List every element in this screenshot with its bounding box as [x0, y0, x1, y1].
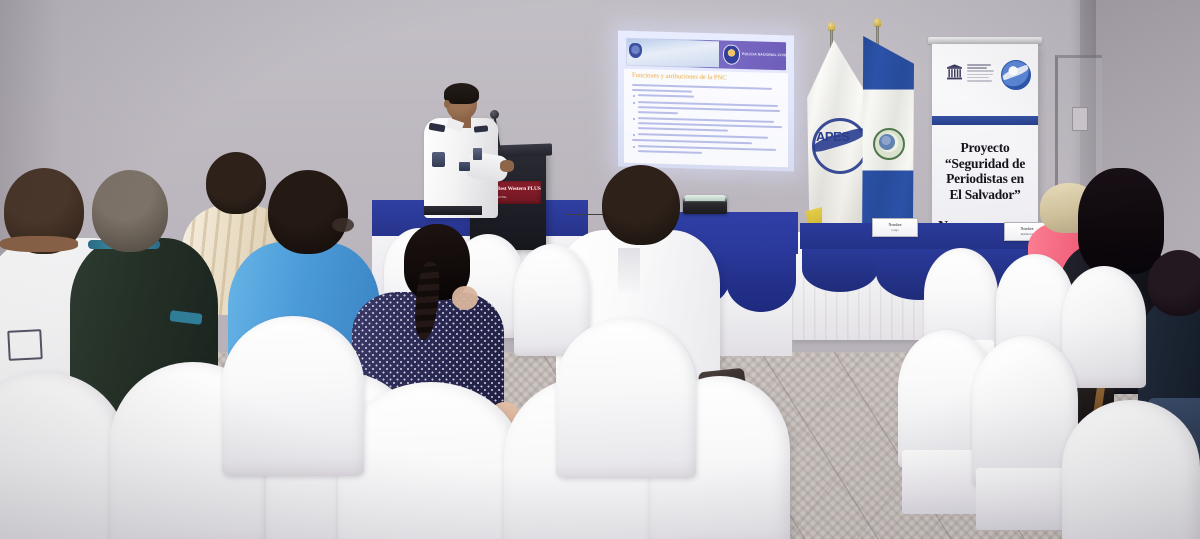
neck-skin [452, 286, 478, 310]
chair [1062, 266, 1146, 388]
jersey-logo-icon [7, 329, 43, 361]
presenter-ear [444, 100, 450, 108]
slide-text-line [638, 133, 768, 139]
slide-body: Funciones y atribuciones de la PNC [624, 69, 788, 168]
unesco-logo-icon [946, 64, 963, 82]
head [92, 170, 168, 252]
slide-text-line [638, 94, 694, 98]
wall-switch-box [1072, 107, 1088, 131]
banner-line-3: Periodistas en [932, 171, 1038, 187]
slide-bullet-icon [633, 134, 635, 136]
conference-room-photo: POLICIA NACIONAL CIVIL Funciones y atrib… [0, 0, 1200, 539]
banner-headline: Proyecto “Seguridad de Periodistas en El… [932, 140, 1038, 202]
slide-bullet-icon [633, 102, 635, 104]
shirt-back-pleat [618, 248, 640, 292]
pnc-crest-icon [723, 44, 740, 64]
banner-line-1: Proyecto [932, 140, 1038, 156]
slide-bullet-icon [633, 146, 635, 148]
slide-text-line [638, 111, 678, 114]
uniform-patch [473, 148, 482, 160]
placard-role: Cargo [873, 228, 917, 232]
slide-bullet-icon [633, 118, 635, 120]
uniform-patch [432, 152, 445, 167]
unesco-wordmark [967, 64, 997, 83]
uniform-belt [424, 206, 482, 215]
apes-flag-text: APES [816, 129, 849, 144]
chair [222, 316, 364, 476]
podium-brand-subtext: HOTEL [497, 195, 541, 199]
slide-text-line [632, 139, 752, 144]
head [206, 152, 266, 214]
table-runner-swag [802, 246, 878, 292]
slide-text-line [638, 127, 728, 132]
slide-text-line [638, 150, 702, 154]
podium-brand-text: Best Western PLUS [497, 186, 541, 192]
projector-table-swag [726, 250, 796, 312]
head [602, 165, 680, 245]
chair [556, 318, 696, 478]
uniform-patch [459, 162, 470, 171]
coat-of-arms-inner-icon [879, 134, 895, 150]
banner-line-2: “Seguridad de [932, 156, 1038, 172]
slide-bullet-icon [633, 95, 635, 97]
head [268, 170, 348, 254]
microphone-icon [490, 110, 499, 119]
slide-header-banner: POLICIA NACIONAL CIVIL [626, 38, 786, 70]
banner-line-4: El Salvador” [932, 187, 1038, 203]
slide-org-label: POLICIA NACIONAL CIVIL [742, 52, 792, 59]
slide-crest-left-icon [629, 43, 642, 58]
name-placard: Nombre Cargo [872, 218, 918, 237]
projector-lens-top [685, 195, 725, 201]
projection-screen: POLICIA NACIONAL CIVIL Funciones y atrib… [618, 31, 794, 172]
banner-top-rail [928, 37, 1042, 44]
ear [332, 218, 354, 232]
dark-long-hair [1078, 168, 1164, 274]
slide-title: Funciones y atribuciones de la PNC [632, 72, 782, 83]
neck [0, 236, 78, 252]
placard-name: Nombre [873, 222, 917, 227]
head [1148, 250, 1200, 316]
banner-blue-stripe [932, 116, 1038, 125]
presenter-hand [500, 160, 514, 172]
slide-text-line [632, 89, 692, 93]
chair-skirt [976, 468, 1074, 530]
chair [1062, 400, 1200, 539]
chair [338, 382, 524, 539]
